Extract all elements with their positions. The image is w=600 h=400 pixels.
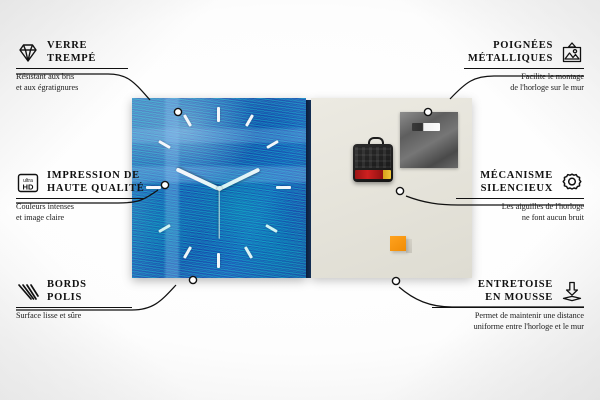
clock-tick [245, 114, 254, 127]
clock-tick [158, 140, 171, 149]
callout-title: VERRE TREMPÉ [47, 40, 96, 65]
callout-title: BORDS POLIS [47, 279, 87, 304]
clock-tick [266, 140, 279, 149]
clock-minute-hand [176, 167, 220, 190]
callout-silent-mechanism[interactable]: MÉCANISME SILENCIEUX Les aiguilles de l'… [434, 170, 584, 223]
polished-edge-icon [16, 280, 40, 304]
arrow-down-layers-icon [560, 280, 584, 304]
callout-divider [16, 307, 132, 308]
callout-hd-print[interactable]: ultra HD IMPRESSION DE HAUTE QUALITÉ Cou… [16, 170, 181, 223]
diamond-icon [16, 41, 40, 65]
foam-spacer-part [390, 236, 406, 251]
callout-divider [464, 68, 584, 69]
svg-text:HD: HD [23, 182, 34, 191]
ultra-hd-icon: ultra HD [16, 171, 40, 195]
callout-title: POIGNÉES MÉTALLIQUES [468, 40, 553, 65]
hanger-slot [412, 123, 440, 131]
callout-header: BORDS POLIS [16, 279, 166, 304]
callout-title: ENTRETOISE EN MOUSSE [478, 279, 553, 304]
callout-description: Facilite le montage de l'horloge sur le … [434, 72, 584, 93]
hanging-frame-icon [560, 41, 584, 65]
callout-title: MÉCANISME SILENCIEUX [480, 170, 553, 195]
product-composite [132, 98, 472, 280]
clock-tick [183, 114, 192, 127]
callout-header: ultra HD IMPRESSION DE HAUTE QUALITÉ [16, 170, 181, 195]
callout-description: Les aiguilles de l'horloge ne font aucun… [434, 202, 584, 223]
callout-header: POIGNÉES MÉTALLIQUES [434, 40, 584, 65]
infographic-canvas: VERRE TREMPÉ Résistant aux bris et aux é… [0, 0, 600, 400]
foam-spacer-shadow [406, 239, 412, 253]
callout-description: Résistant aux bris et aux égratignures [16, 72, 166, 93]
callout-foam-spacer[interactable]: ENTRETOISE EN MOUSSE Permet de maintenir… [414, 279, 584, 332]
clock-tick [217, 107, 220, 122]
callout-divider [16, 198, 144, 199]
callout-polished-edges[interactable]: BORDS POLIS Surface lisse et sûre [16, 279, 166, 322]
callout-divider [456, 198, 584, 199]
callout-description: Permet de maintenir une distance uniform… [414, 311, 584, 332]
callout-divider [16, 68, 128, 69]
clock-tick [276, 186, 291, 189]
gear-icon [560, 171, 584, 195]
clock-hour-hand [218, 167, 260, 190]
battery [355, 170, 391, 179]
callout-description: Surface lisse et sûre [16, 311, 166, 322]
callout-header: VERRE TREMPÉ [16, 40, 166, 65]
callout-tempered-glass[interactable]: VERRE TREMPÉ Résistant aux bris et aux é… [16, 40, 166, 93]
clock-tick [244, 246, 253, 259]
callout-metal-handles[interactable]: POIGNÉES MÉTALLIQUES Facilite le montage… [434, 40, 584, 93]
mechanism-texture [355, 147, 391, 168]
callout-description: Couleurs intenses et image claire [16, 202, 181, 223]
clock-tick [265, 224, 278, 233]
callout-divider [432, 307, 584, 308]
clock-tick [183, 246, 192, 259]
clock-tick [217, 253, 220, 268]
clock-center-hub [217, 186, 222, 191]
callout-header: MÉCANISME SILENCIEUX [434, 170, 584, 195]
clock-second-hand [218, 189, 219, 239]
callout-title: IMPRESSION DE HAUTE QUALITÉ [47, 170, 145, 195]
clock-tick [158, 224, 171, 233]
callout-header: ENTRETOISE EN MOUSSE [414, 279, 584, 304]
metal-hanger-part [400, 112, 458, 168]
